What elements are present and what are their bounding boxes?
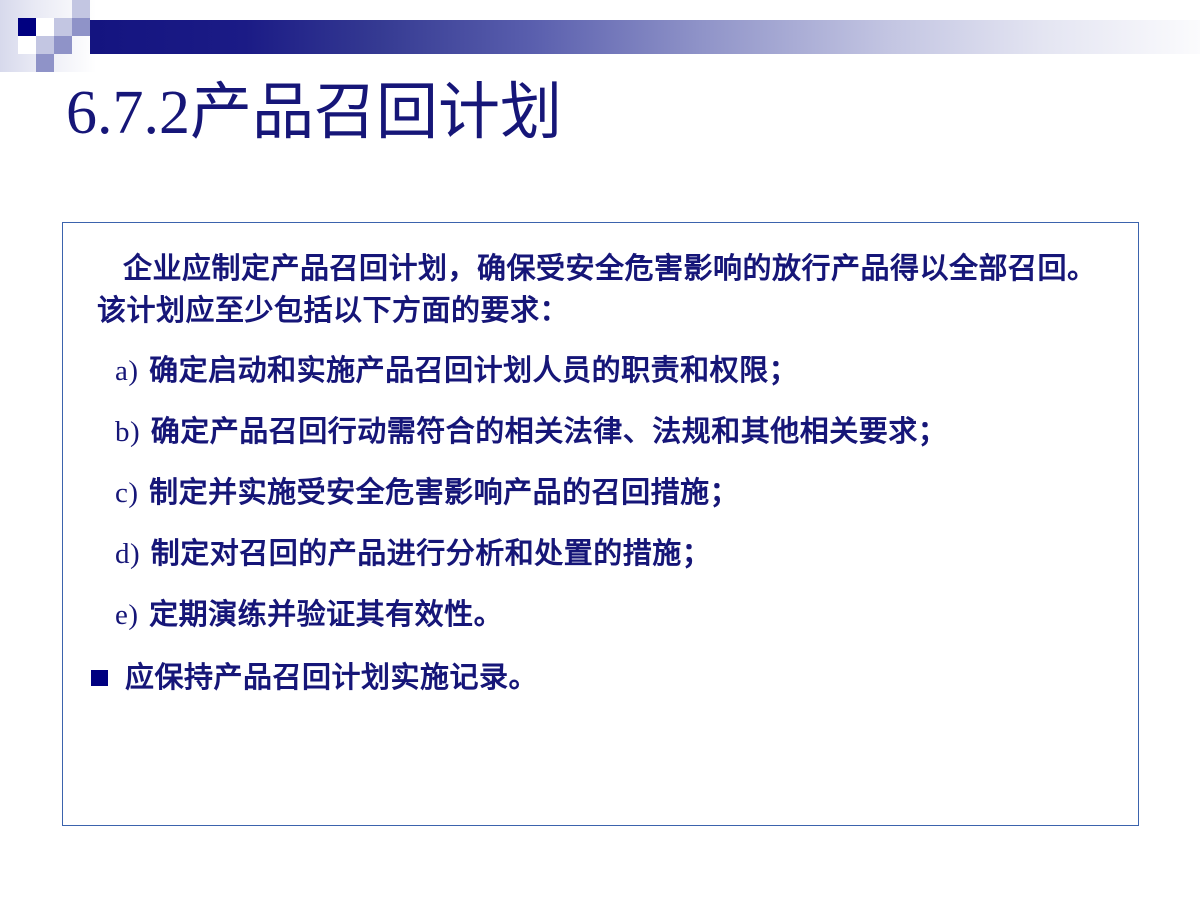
list-item-text: 确定产品召回行动需符合的相关法律、法规和其他相关要求； [151,414,948,448]
list-item: a) 确定启动和实施产品召回计划人员的职责和权限； [79,349,1122,392]
list-item-marker: e) [115,599,139,631]
list-item: b) 确定产品召回行动需符合的相关法律、法规和其他相关要求； [79,410,1122,453]
mosaic-square [36,36,54,54]
list-item: c) 制定并实施受安全危害影响产品的召回措施； [79,471,1122,514]
list-item: e) 定期演练并验证其有效性。 [79,593,1122,636]
decorative-header-band [0,0,1200,80]
list-item-marker: c) [115,477,139,509]
list-item-marker: b) [115,416,140,448]
mosaic-square [18,18,36,36]
list-item: d) 制定对召回的产品进行分析和处置的措施； [79,532,1122,575]
mosaic-square [72,18,90,36]
header-gradient-bar [90,20,1200,54]
slide-canvas: 6.7.2产品召回计划 企业应制定产品召回计划，确保受安全危害影响的放行产品得以… [0,0,1200,900]
list-item-text: 制定并实施受安全危害影响产品的召回措施； [149,475,739,509]
list-item-text: 制定对召回的产品进行分析和处置的措施； [151,536,712,570]
content-box: 企业应制定产品召回计划，确保受安全危害影响的放行产品得以全部召回。该计划应至少包… [62,222,1139,826]
square-bullet-icon [91,670,108,686]
bulleted-note-text: 应保持产品召回计划实施记录。 [125,656,538,698]
list-item-marker: d) [115,538,140,570]
slide-title: 6.7.2产品召回计划 [66,74,1066,152]
intro-paragraph: 企业应制定产品召回计划，确保受安全危害影响的放行产品得以全部召回。该计划应至少包… [79,247,1122,331]
mosaic-square [18,36,36,54]
bulleted-note: 应保持产品召回计划实施记录。 [79,656,1122,698]
list-item-text: 定期演练并验证其有效性。 [149,597,503,631]
mosaic-square [36,54,54,72]
mosaic-square [54,18,72,36]
list-item-text: 确定启动和实施产品召回计划人员的职责和权限； [149,353,798,387]
mosaic-square [72,0,90,18]
mosaic-square [54,36,72,54]
list-item-marker: a) [115,355,139,387]
mosaic-square [36,18,54,36]
